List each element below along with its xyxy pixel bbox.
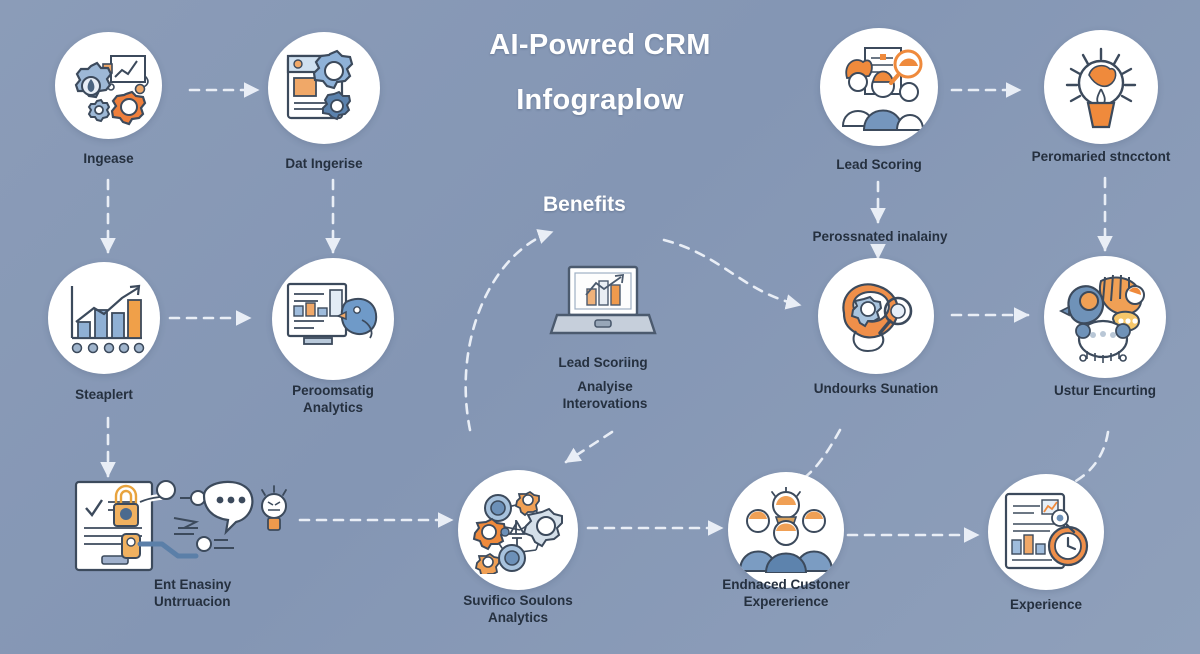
endnaced-text-line1: Endnaced Custoner [722,577,850,592]
node-label-experience: Experience [1010,596,1082,613]
arrow-laptop-to-undourks [664,240,800,305]
gear-magnifier-icon [818,258,934,374]
title-line-1: AI-Powred CRM [489,29,710,61]
node-label-steaplert: Steaplert [75,386,133,403]
laptop-chart-icon [546,262,660,348]
report-clock-icon [988,474,1104,590]
dashboard-bird-icon [272,258,394,380]
node-label-peromaried: Peromaried stncctont [1032,148,1171,165]
node-endnaced[interactable]: Endnaced Custoner Expererience [728,472,844,588]
gears-chart-icon [55,32,162,139]
team-idea-icon [728,472,844,588]
node-ustur[interactable]: Ustur Encurting [1044,256,1166,378]
bar-chart-growth-icon [48,262,160,374]
ent-enasiny-text-line2: Untrruacion [154,594,231,609]
node-ingease[interactable]: Ingease [55,32,162,139]
document-gear-icon [268,32,380,144]
node-label-lead-scoring: Lead Scoring [836,156,922,173]
node-label-suvifico: Suvifico Soulons Analytics [423,592,613,626]
lightbulb-plant-icon [1044,30,1158,144]
node-dat-ingerise[interactable]: Dat Ingerise [268,32,380,144]
node-label-ingease: Ingease [83,150,133,167]
node-steaplert[interactable]: Steaplert [48,262,160,374]
document-chat-lock-icon [62,472,294,576]
node-label-dat-ingerise: Dat Ingerise [285,155,362,172]
suvifico-text-line1: Suvifico Soulons [463,593,573,608]
node-label-perossnated: Perossnated inalainy [812,228,947,245]
node-peroomsatig[interactable]: Peroomsatig Analytics [272,258,394,380]
node-laptop-center[interactable]: Lead Scoriing [546,262,660,348]
analyise-text-line2: Interovations [563,396,648,411]
node-label-ustur: Ustur Encurting [1054,382,1156,399]
node-lead-scoring[interactable]: Lead Scoring [820,28,938,146]
infographic-canvas: AI-Powred CRM Infograplow [0,0,1200,654]
arrow-analyise-down [566,432,612,462]
title-line-2: Infograplow [0,73,1200,128]
node-label-analyise: Analyise Interovations [520,378,690,412]
peroomsatig-text-line1: Peroomsatig [292,383,374,398]
node-experience[interactable]: Experience [988,474,1104,590]
endnaced-text-line2: Expererience [744,594,829,609]
node-label-undourks: Undourks Sunation [814,380,939,397]
node-suvifico[interactable]: Suvifico Soulons Analytics [458,470,578,590]
gear-network-icon [458,470,578,590]
node-label-ent-enasiny: Ent Enasiny Untrruacion [154,576,354,610]
page-title: AI-Powred CRM Infograplow [0,18,1200,128]
analyise-text-line1: Analyise [577,379,633,394]
ai-robot-brain-icon [1044,256,1166,378]
ent-enasiny-text-line1: Ent Enasiny [154,577,231,592]
node-label-peroomsatig: Peroomsatig Analytics [248,382,418,416]
people-search-icon [820,28,938,146]
node-ent-enasiny[interactable]: Ent Enasiny Untrruacion [62,472,294,576]
node-label-endnaced: Endnaced Custoner Expererience [686,576,886,610]
suvifico-text-line2: Analytics [488,610,548,625]
node-undourks[interactable]: Undourks Sunation [818,258,934,374]
benefits-section-title: Benefits [543,193,626,217]
node-label-laptop-center: Lead Scoriing [558,354,647,371]
node-peromaried[interactable]: Peromaried stncctont [1044,30,1158,144]
peroomsatig-text-line2: Analytics [303,400,363,415]
